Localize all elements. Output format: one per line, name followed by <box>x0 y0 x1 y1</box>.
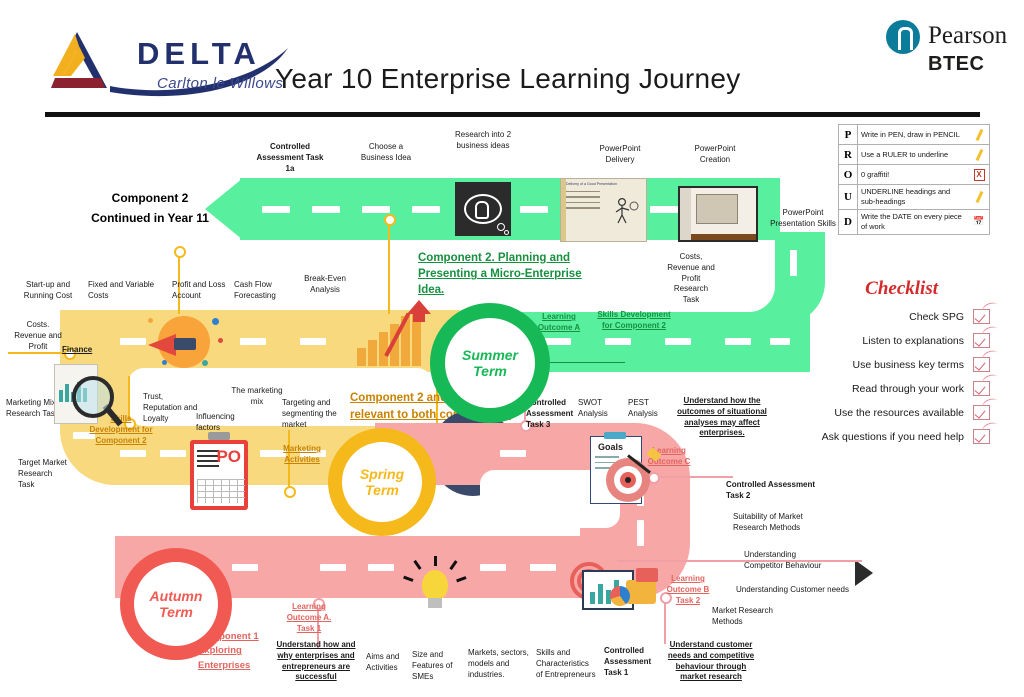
page-title: Year 10 Enterprise Learning Journey <box>275 63 741 95</box>
label-ca-task-1: Controlled Assessment Task 1 <box>604 646 660 678</box>
presentation-book-icon: Delivery of a Good Presentation <box>560 178 647 242</box>
checkbox-icon[interactable] <box>973 405 990 420</box>
proud-row: R Use a RULER to underline <box>839 145 989 165</box>
checkbox-icon[interactable] <box>973 309 990 324</box>
label-suitability-market-research: Suitability of Market Research Methods <box>733 512 817 534</box>
proud-row: U UNDERLINE headings and sub-headings <box>839 185 989 210</box>
label-situational-analyses: Understand how the outcomes of situation… <box>672 396 772 439</box>
label-ca-task-1a: Controlled Assessment Task 1a <box>255 142 325 174</box>
term-circle-autumn: Autumn Term <box>120 548 232 660</box>
road-dash <box>650 206 678 213</box>
proud-text: UNDERLINE headings and sub-headings <box>858 185 969 209</box>
road-dash <box>262 206 290 213</box>
business-analysis-icon <box>570 556 662 618</box>
label-pest-analysis: PEST Analysis <box>628 398 674 420</box>
road-dash <box>530 564 556 571</box>
goals-label: Goals <box>598 442 623 452</box>
checkbox-icon[interactable] <box>973 429 990 444</box>
label-aims-activities: Aims and Activities <box>366 652 412 674</box>
label-understand-customer-needs-research: Understand customer needs and competitiv… <box>666 640 756 683</box>
label-understanding-competitor-behaviour: Understanding Competitor Behaviour <box>744 550 824 572</box>
research-magnifier-icon <box>48 362 126 432</box>
school-name: DELTA <box>137 36 261 72</box>
pencil-icon <box>969 185 989 209</box>
road-dash <box>500 450 526 457</box>
label-learning-outcome-b-task-2: Learning Outcome B Task 2 <box>660 574 716 606</box>
lightbulb-idea-icon <box>406 556 464 618</box>
label-the-marketing-mix: The marketing mix <box>226 386 288 408</box>
road-dash <box>665 338 691 345</box>
label-powerpoint-creation: PowerPoint Creation <box>680 144 750 166</box>
proud-row: P Write in PEN, draw in PENCIL <box>839 125 989 145</box>
term-circle-spring: Spring Term <box>328 428 436 536</box>
proud-text: 0 graffiti! <box>858 165 969 184</box>
label-market-research-methods: Market Research Methods <box>712 606 782 628</box>
calendar-icon: 📅 <box>969 210 989 234</box>
label-understand-enterprises-successful: Understand how and why enterprises and e… <box>276 640 356 683</box>
proud-row: O 0 graffiti! X <box>839 165 989 185</box>
learning-journey-poster: DELTA Carlton le Willows Year 10 Enterpr… <box>0 0 1024 697</box>
checklist-item-label: Ask questions if you need help <box>822 431 964 443</box>
school-subtitle: Carlton le Willows <box>157 75 283 92</box>
label-break-even-analysis: Break-Even Analysis <box>296 274 354 296</box>
label-powerpoint-delivery: PowerPoint Delivery <box>585 144 655 166</box>
road-dash <box>480 564 506 571</box>
road-dash <box>160 450 186 457</box>
label-costs-revenue-profit: Costs. Revenue and Profit <box>14 320 62 352</box>
checkbox-icon[interactable] <box>973 333 990 348</box>
checklist-item-label: Listen to explanations <box>862 335 964 347</box>
road-dash <box>545 338 571 345</box>
road-dash <box>790 250 797 276</box>
goals-target-icon: Goals <box>590 432 654 504</box>
label-cash-flow-forecasting: Cash Flow Forecasting <box>234 280 292 302</box>
label-profit-loss-account: Profit and Loss Account <box>172 280 234 302</box>
checklist-item-label: Use business key terms <box>853 359 964 371</box>
checklist-item-label: Read through your work <box>852 383 964 395</box>
proud-text: Write the DATE on every piece of work <box>858 210 969 234</box>
book-title: Delivery of a Good Presentation <box>566 182 617 186</box>
school-logo: DELTA Carlton le Willows <box>45 28 295 103</box>
label-powerpoint-skills: PowerPoint Presentation Skills <box>770 208 836 230</box>
component-2-continued: Component 2 Continued in Year 11 <box>60 188 240 229</box>
component-2-heading: Component 2. Planning and Presenting a M… <box>418 250 583 298</box>
label-influencing-factors: Influencing factors <box>196 412 252 434</box>
growth-chart-icon <box>355 300 435 372</box>
pearson-qualification: BTEC <box>928 53 984 76</box>
purchase-order-clipboard-icon: PO <box>190 440 248 510</box>
idea-cloud-icon <box>455 182 511 236</box>
road-dash <box>120 450 146 457</box>
proud-letter: R <box>839 145 858 164</box>
checklist-item: Use the resources available <box>760 405 990 420</box>
label-target-market-task: Target Market Research Task <box>18 458 70 490</box>
road-dash <box>362 206 390 213</box>
term-circle-summer: Summer Term <box>430 303 550 423</box>
label-marketing-activities: Marketing Activities <box>272 444 332 466</box>
road-dash <box>232 564 258 571</box>
proud-letter: O <box>839 165 858 184</box>
checkbox-icon[interactable] <box>973 381 990 396</box>
label-markets-sectors-models: Markets, sectors, models and industries. <box>468 648 530 680</box>
pink-road-arrow <box>855 560 873 586</box>
proud-letter: D <box>839 210 858 234</box>
proud-table: P Write in PEN, draw in PENCIL R Use a R… <box>838 124 990 235</box>
label-understanding-customer-needs: Understanding Customer needs <box>736 585 856 596</box>
proud-text: Use a RULER to underline <box>858 145 969 164</box>
label-learning-outcome-a-task-1: Learning Outcome A. Task 1 <box>278 602 340 634</box>
laptop-presentation-icon <box>678 186 758 242</box>
label-costs-revenue-profit-task: Costs, Revenue and Profit Research Task <box>665 252 717 306</box>
checklist-item-label: Check SPG <box>909 311 964 323</box>
label-skills-characteristics-entrepreneurs: Skills and Characteristics of Entreprene… <box>536 648 596 680</box>
label-trust-reputation-loyalty: Trust, Reputation and Loyalty <box>143 392 203 424</box>
checkbox-icon[interactable] <box>973 357 990 372</box>
presenter-figure-icon <box>610 197 640 225</box>
proud-row: D Write the DATE on every piece of work … <box>839 210 989 234</box>
road-dash <box>240 338 266 345</box>
header-divider <box>45 112 980 117</box>
proud-text: Write in PEN, draw in PENCIL <box>858 125 969 144</box>
connector <box>655 476 733 478</box>
label-swot-analysis: SWOT Analysis <box>578 398 624 420</box>
road-dash <box>312 206 340 213</box>
label-size-features-smes: Size and Features of SMEs <box>412 650 460 682</box>
label-targeting-segmenting: Targeting and segmenting the market <box>282 398 338 430</box>
road-dash <box>300 338 326 345</box>
label-startup-running-cost: Start-up and Running Cost <box>10 280 86 302</box>
pearson-mark-icon <box>886 20 920 54</box>
road-dash <box>368 564 394 571</box>
checklist-item: Read through your work <box>760 381 990 396</box>
label-finance: Finance <box>62 345 92 356</box>
arrow-up-icon <box>405 300 435 322</box>
pencil-icon <box>969 125 989 144</box>
road-dash <box>520 206 548 213</box>
label-choose-business-idea: Choose a Business Idea <box>355 142 417 164</box>
road-dash <box>770 338 790 345</box>
road-dash <box>412 206 440 213</box>
proud-letter: U <box>839 185 858 209</box>
pearson-brand: Pearson <box>928 22 1007 50</box>
marketing-megaphone-icon <box>140 312 226 372</box>
road-dash <box>725 338 751 345</box>
no-graffiti-icon: X <box>969 165 989 184</box>
connector-node <box>384 214 396 226</box>
pencil-icon <box>969 145 989 164</box>
proud-letter: P <box>839 125 858 144</box>
label-ca-task-2: Controlled Assessment Task 2 <box>726 480 822 502</box>
road-dash <box>637 520 644 546</box>
connector-node <box>174 246 186 258</box>
checklist-item-label: Use the resources available <box>834 407 964 419</box>
road-dash <box>320 564 346 571</box>
label-skills-development-c2-green: Skills Development for Component 2 <box>592 310 676 332</box>
label-fixed-variable-costs: Fixed and Variable Costs <box>88 280 158 302</box>
connector-node <box>284 486 296 498</box>
checklist-item: Ask questions if you need help <box>760 429 990 444</box>
road-dash <box>605 338 631 345</box>
label-research-ideas: Research into 2 business ideas <box>452 130 514 152</box>
